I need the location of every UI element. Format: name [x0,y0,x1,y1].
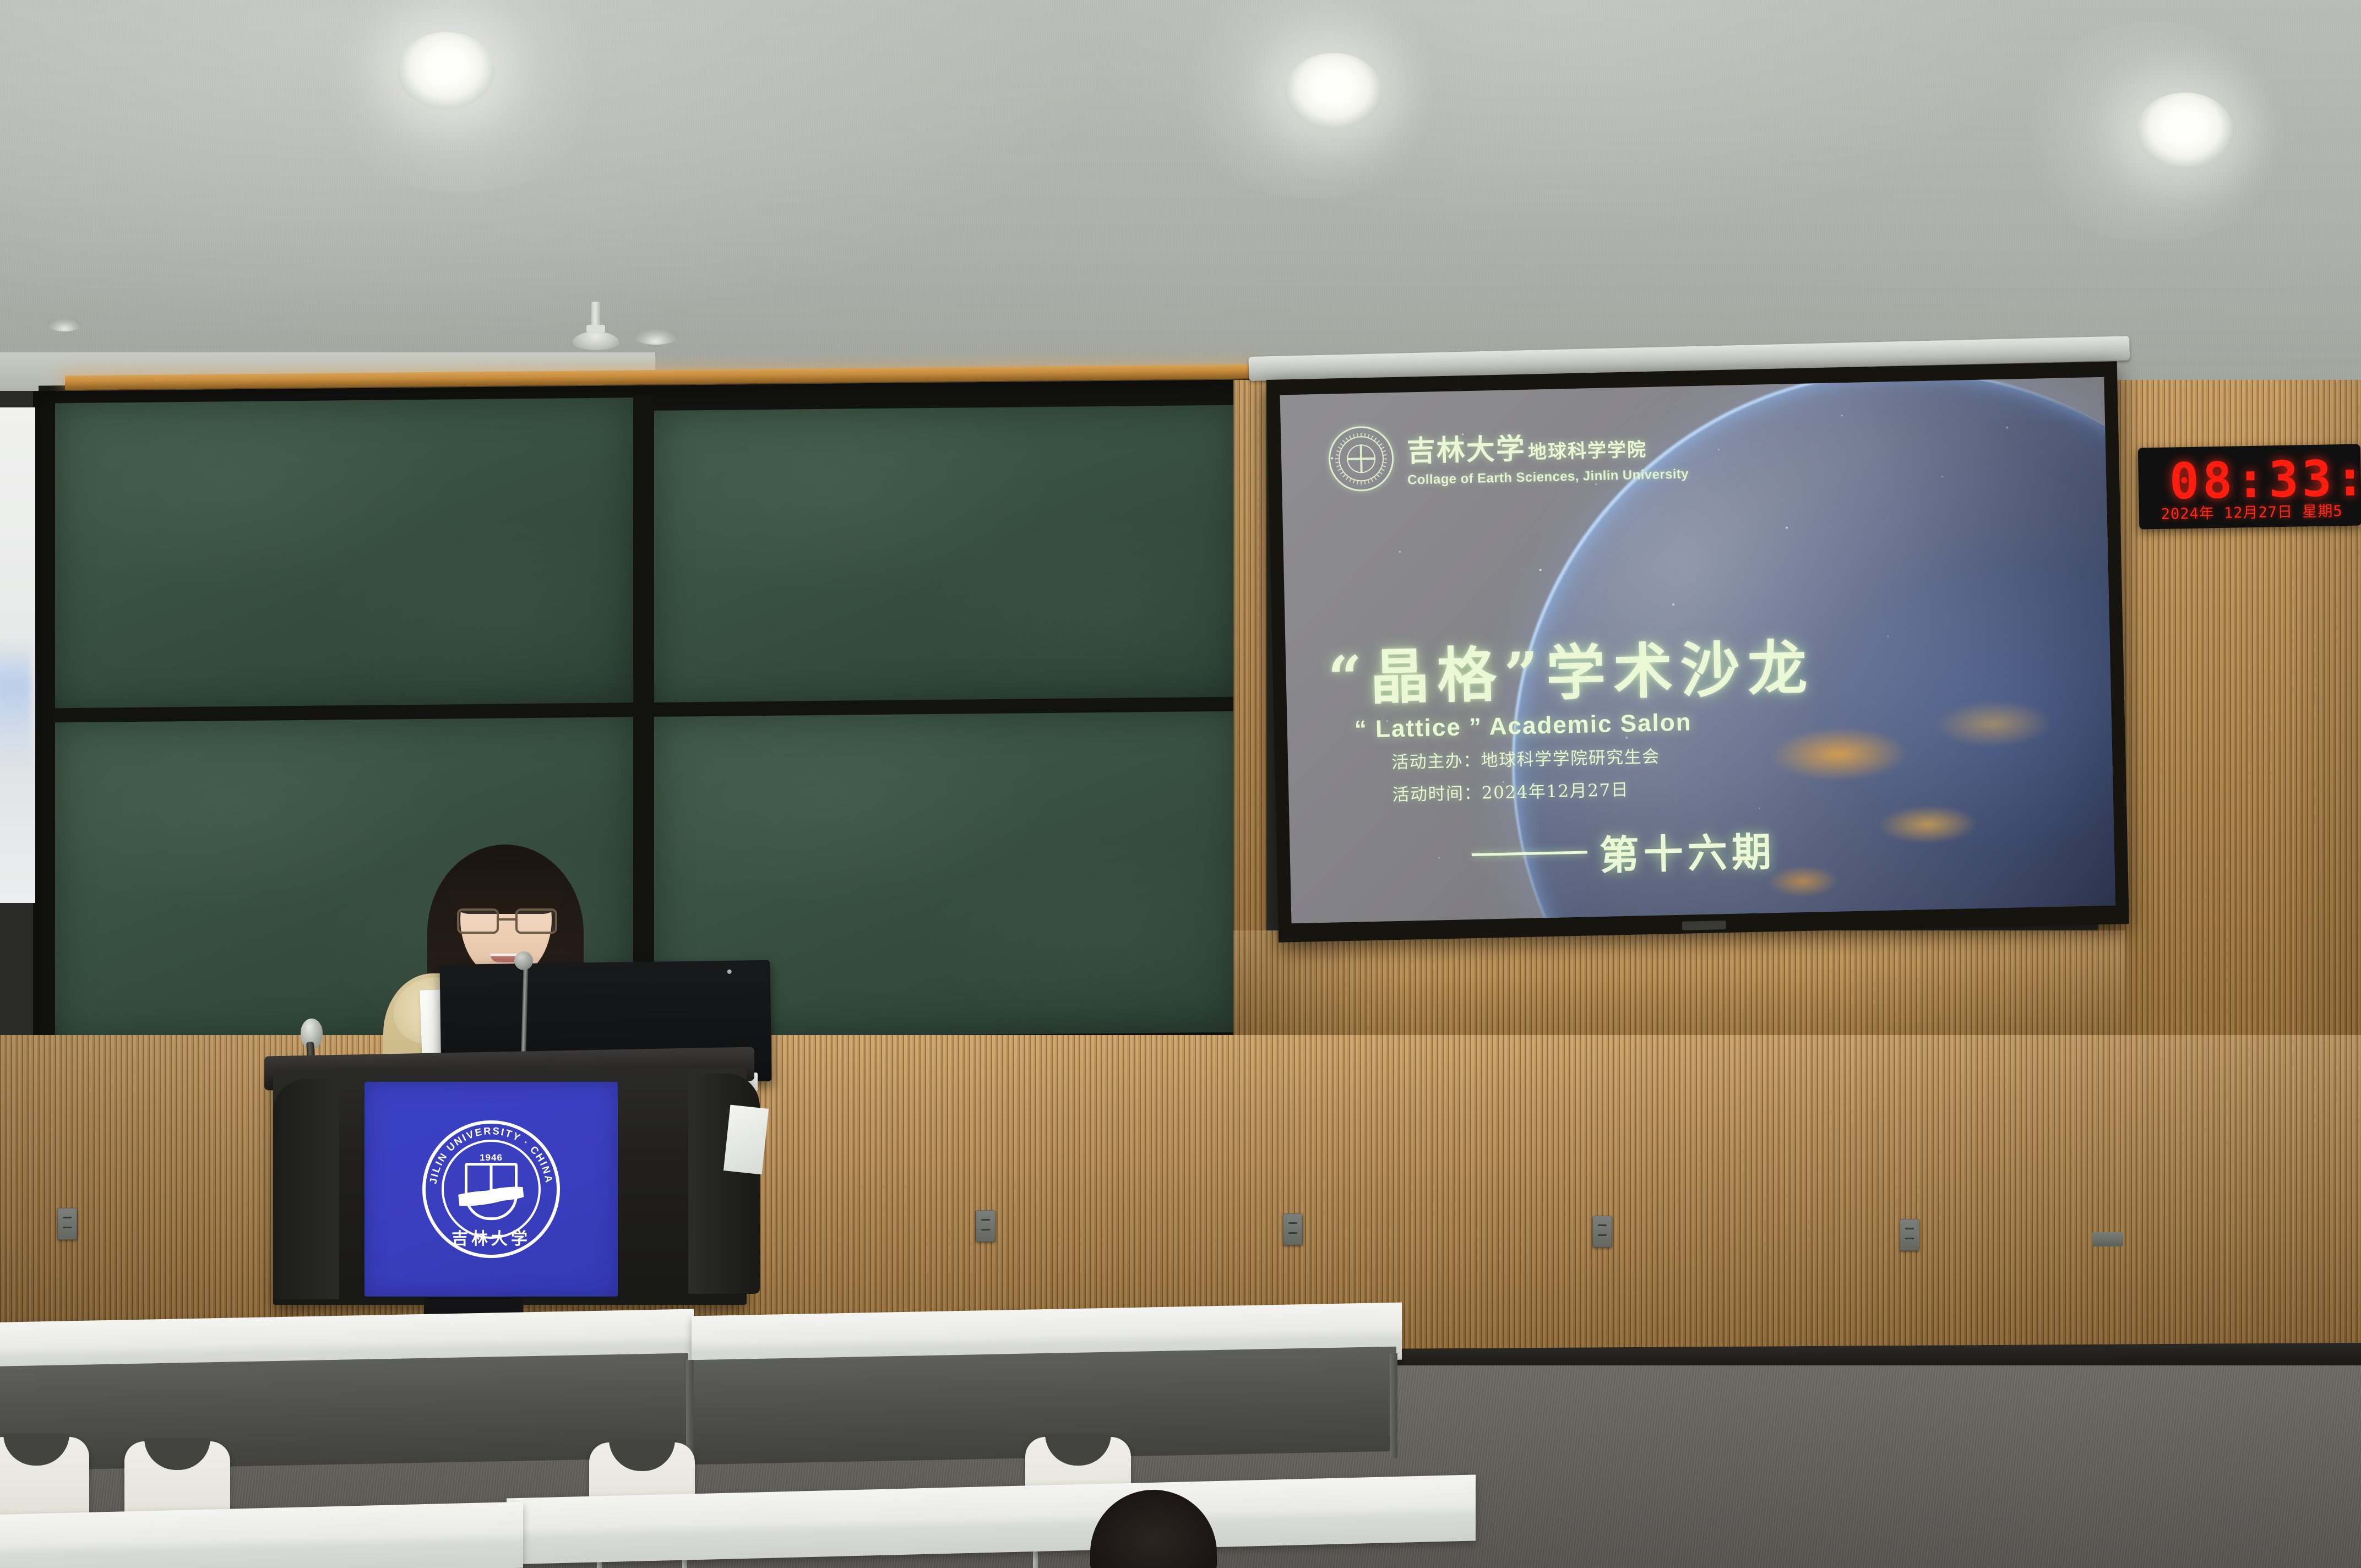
slide-logo-title-en: Collage of Earth Sciences, Jinlin Univer… [1407,466,1689,488]
ceiling [0,0,2361,380]
gooseneck-microphone-head [514,951,533,970]
led-wall-clock: 08:33: 2024年 12月27日 星期5 [2138,444,2361,529]
clock-date: 2024年 12月27日 星期5 [2161,499,2342,524]
slide-logo-text: 吉林大学地球科学学院 Collage of Earth Sciences, Ji… [1406,422,1689,488]
slide-meta-block: 活动主办：地球科学学院研究生会 活动时间：2024年12月27日 [1391,743,1661,806]
desk-leg [1390,1353,1397,1458]
podium-logo-panel: JILIN UNIVERSITY · CHINA 1946 吉林大学 [365,1082,618,1297]
secondary-screen-projection-glow [0,639,31,771]
wall-outlet[interactable] [1283,1213,1303,1245]
wood-shading [1233,930,2125,1046]
projection-screen[interactable]: 吉林大学地球科学学院 Collage of Earth Sciences, Ji… [1266,361,2129,942]
wall-outlet[interactable] [57,1208,77,1240]
wall-outlet[interactable] [1592,1216,1612,1248]
wall-outlet[interactable] [976,1210,995,1242]
projected-slide: 吉林大学地球科学学院 Collage of Earth Sciences, Ji… [1280,377,2116,923]
glasses-lens-left [457,908,499,934]
podium-left-wing [273,1079,339,1299]
seal-chinese-name: 吉林大学 [451,1225,531,1249]
seal-founded-year: 1946 [480,1152,503,1163]
slide-logo-title-cn: 吉林大学地球科学学院 [1406,422,1689,469]
issue-rule [1472,851,1587,856]
slide-organizer: 活动主办：地球科学学院研究生会 [1391,743,1660,774]
ceiling-downlight [2136,92,2233,168]
podium-loose-paper [723,1105,769,1175]
wood-wall-segment [1233,930,2125,1046]
slide-issue-label: 第十六期 [1599,819,1776,881]
slide-institution-logo: 吉林大学地球科学学院 Collage of Earth Sciences, Ji… [1328,419,1689,492]
jilin-university-podium-seal-icon: JILIN UNIVERSITY · CHINA 1946 吉林大学 [422,1120,560,1258]
lecture-hall-photo: 吉林大学地球科学学院 Collage of Earth Sciences, Ji… [0,0,2361,1568]
glasses-bridge [499,918,515,921]
jilin-university-seal-icon [1328,426,1395,492]
seal-ticks [1333,431,1389,487]
slide-issue-line: 第十六期 [1471,819,1776,884]
wall-outlet[interactable] [1900,1219,1919,1251]
desk-modesty-panel [0,1353,688,1472]
monitor-indicator-led [727,970,732,974]
presenter-glasses [455,908,559,934]
chalkboard-panel [55,398,633,711]
screen-bottom-weight [1682,921,1726,930]
chalkboard-panel [654,405,1238,706]
ceiling-downlight [398,32,494,109]
wall-plate [2092,1232,2123,1246]
ceiling-downlight [1285,53,1382,129]
glasses-lens-right [515,908,557,934]
slide-title: “晶格”学术沙龙 [1327,620,1815,716]
ceiling-light-gradient [0,0,2361,380]
ceiling-recess [47,318,81,331]
ceiling-recess [633,328,678,345]
speaker-cone [573,331,619,350]
